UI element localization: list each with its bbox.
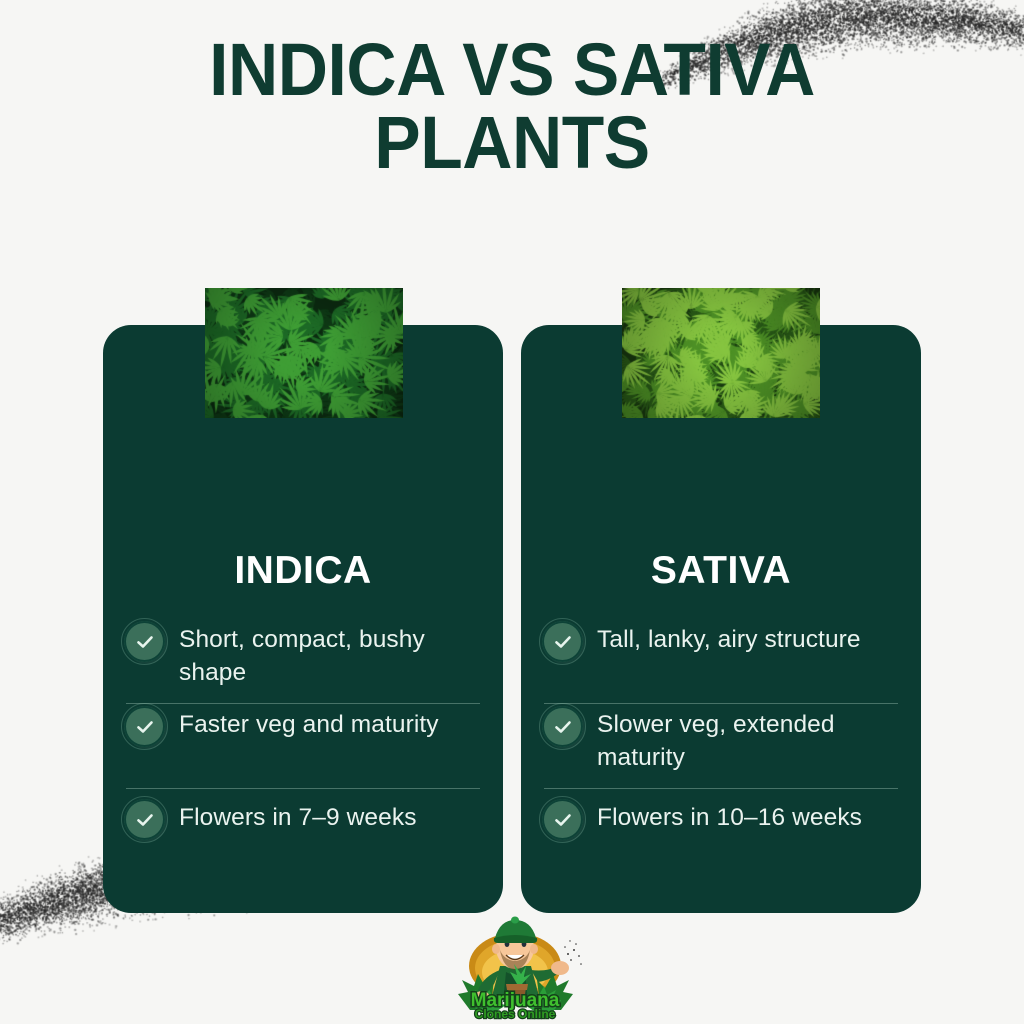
list-item-label: Slower veg, extended maturity xyxy=(597,704,900,775)
list-item: Tall, lanky, airy structure xyxy=(542,619,900,703)
card-sativa-heading: SATIVA xyxy=(521,549,921,593)
check-circle-icon xyxy=(124,799,165,840)
card-indica-heading: INDICA xyxy=(103,549,503,593)
list-item: Short, compact, bushy shape xyxy=(124,619,482,703)
list-item-label: Faster veg and maturity xyxy=(179,704,439,742)
list-item-label: Tall, lanky, airy structure xyxy=(597,619,861,657)
list-item: Flowers in 7–9 weeks xyxy=(124,797,482,857)
list-item: Slower veg, extended maturity xyxy=(542,704,900,788)
list-divider xyxy=(544,788,898,789)
image-sativa-canopy xyxy=(622,288,820,418)
list-item-label: Flowers in 10–16 weeks xyxy=(597,797,862,835)
image-indica-canopy xyxy=(205,288,403,418)
card-indica-feature-list: Short, compact, bushy shape Faster veg a… xyxy=(124,619,482,857)
list-divider xyxy=(126,788,480,789)
page-title: INDICA VS SATIVA PLANTS xyxy=(31,34,994,179)
check-circle-icon xyxy=(124,706,165,747)
check-circle-icon xyxy=(542,706,583,747)
marijuana-clones-online-logo: Marijuana Clones Online xyxy=(448,914,583,1022)
list-item: Flowers in 10–16 weeks xyxy=(542,797,900,857)
check-circle-icon xyxy=(542,621,583,662)
page-title-line-1: INDICA VS SATIVA xyxy=(31,34,994,107)
logo-line2: Clones Online xyxy=(475,1007,556,1021)
list-item-label: Flowers in 7–9 weeks xyxy=(179,797,417,835)
list-item-label: Short, compact, bushy shape xyxy=(179,619,482,690)
infographic-canvas: INDICA VS SATIVA PLANTS INDICA Short, co… xyxy=(0,0,1024,1024)
check-circle-icon xyxy=(124,621,165,662)
check-circle-icon xyxy=(542,799,583,840)
list-item: Faster veg and maturity xyxy=(124,704,482,788)
page-title-line-2: PLANTS xyxy=(31,107,994,180)
card-sativa-feature-list: Tall, lanky, airy structure Slower veg, … xyxy=(542,619,900,857)
